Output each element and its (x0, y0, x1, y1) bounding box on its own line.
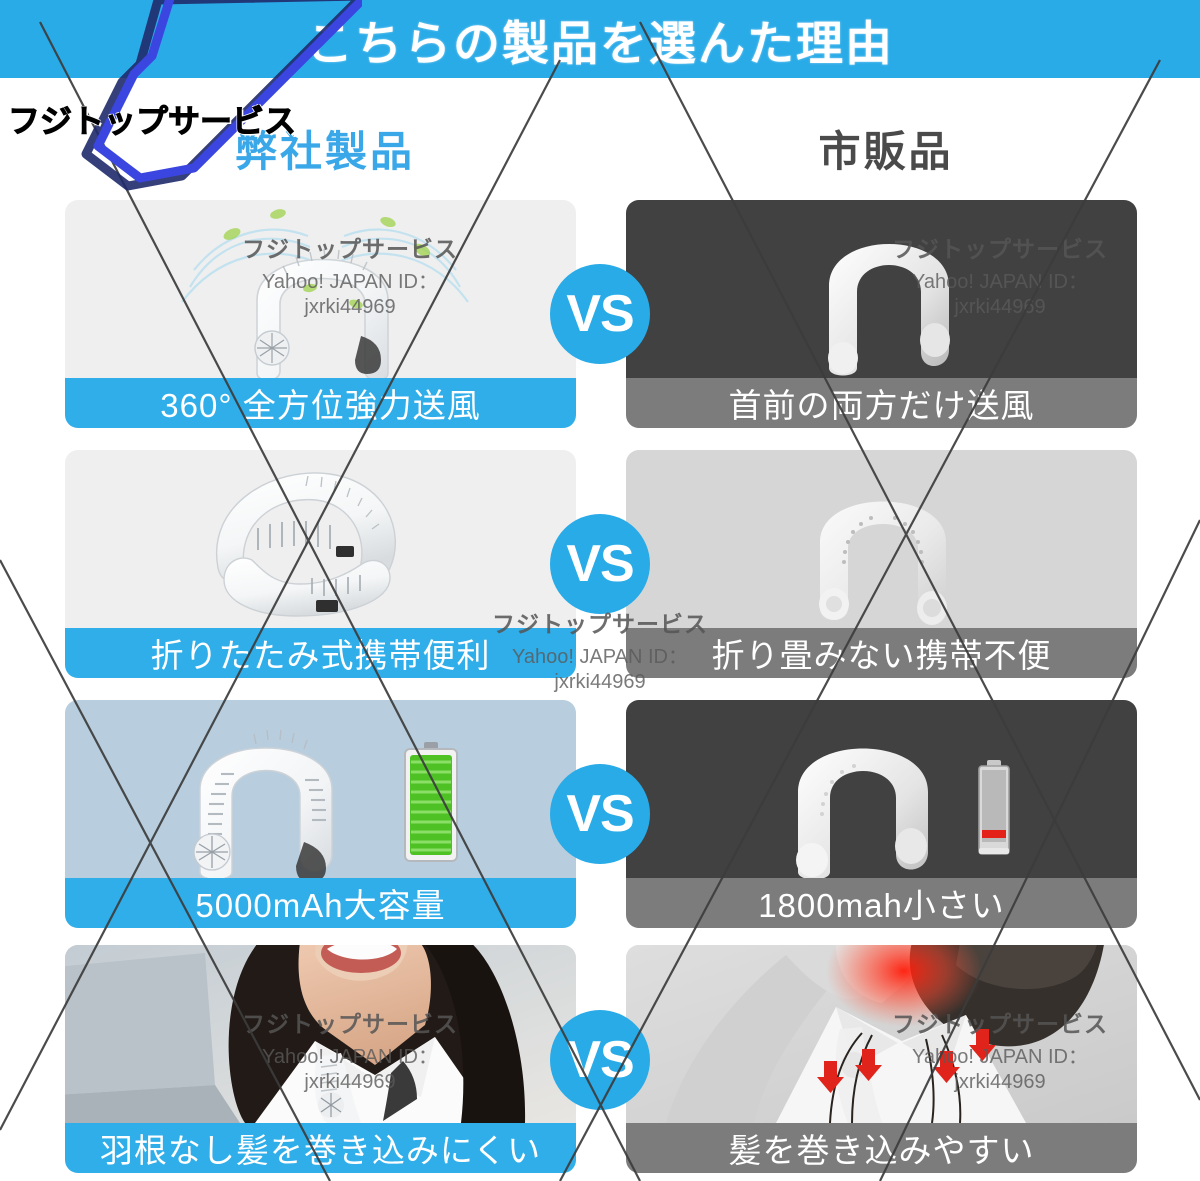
card-caption-row3-ours: 5000mAh大容量 (65, 878, 576, 928)
card-row4-ours: 羽根なし髪を巻き込みにくい (65, 945, 576, 1173)
card-media-row4-market (626, 945, 1137, 1123)
card-row2-ours: 折りたたみ式携帯便利 (65, 450, 576, 678)
neckband-fan-battery-icon (160, 702, 375, 878)
card-caption-row1-market: 首前の両方だけ送風 (626, 378, 1137, 428)
vs-badge-row4: VS (550, 1010, 650, 1110)
neckband-fan-low-battery-icon (756, 704, 971, 878)
card-caption-row3-market: 1800mah小さい (626, 878, 1137, 928)
card-row3-market: 1800mah小さい (626, 700, 1137, 928)
neckband-fan-grayscale-icon (781, 200, 996, 378)
card-row1-ours: 360° 全方位強力送風 (65, 200, 576, 428)
card-media-row1-ours (65, 200, 576, 378)
vs-badge-row3: VS (550, 764, 650, 864)
woman-hair-tangled-photo (626, 945, 1137, 1123)
battery-low-icon (974, 760, 1014, 860)
card-row3-ours: 5000mAh大容量 (65, 700, 576, 928)
card-media-row2-ours (65, 450, 576, 628)
card-caption-row2-market: 折り畳みない携帯不便 (626, 628, 1137, 678)
woman-smiling-photo (65, 945, 576, 1123)
product-comparison-page: こちらの製品を選んた理由 弊社製品 市販品 (0, 0, 1200, 1181)
card-caption-row4-ours: 羽根なし髪を巻き込みにくい (65, 1123, 576, 1173)
card-row4-market: 髪を巻き込みやすい (626, 945, 1137, 1173)
rigid-neckband-fan-icon (786, 458, 996, 628)
card-caption-row1-ours: 360° 全方位強力送風 (65, 378, 576, 428)
card-caption-row4-market: 髪を巻き込みやすい (626, 1123, 1137, 1173)
battery-full-icon (400, 742, 462, 867)
vs-badge-row1: VS (550, 264, 650, 364)
card-media-row1-market (626, 200, 1137, 378)
card-media-row2-market (626, 450, 1137, 628)
card-caption-row2-ours: 折りたたみ式携帯便利 (65, 628, 576, 678)
folded-neckband-fan-icon (200, 460, 450, 625)
card-media-row4-ours (65, 945, 576, 1123)
neckband-fan-icon (215, 208, 430, 378)
card-row2-market: 折り畳みない携帯不便 (626, 450, 1137, 678)
card-media-row3-ours (65, 700, 576, 878)
vs-badge-row2: VS (550, 514, 650, 614)
card-row1-market: 首前の両方だけ送風 (626, 200, 1137, 428)
watermark-corner-brand: フジトップサービス (8, 96, 296, 142)
card-media-row3-market (626, 700, 1137, 878)
